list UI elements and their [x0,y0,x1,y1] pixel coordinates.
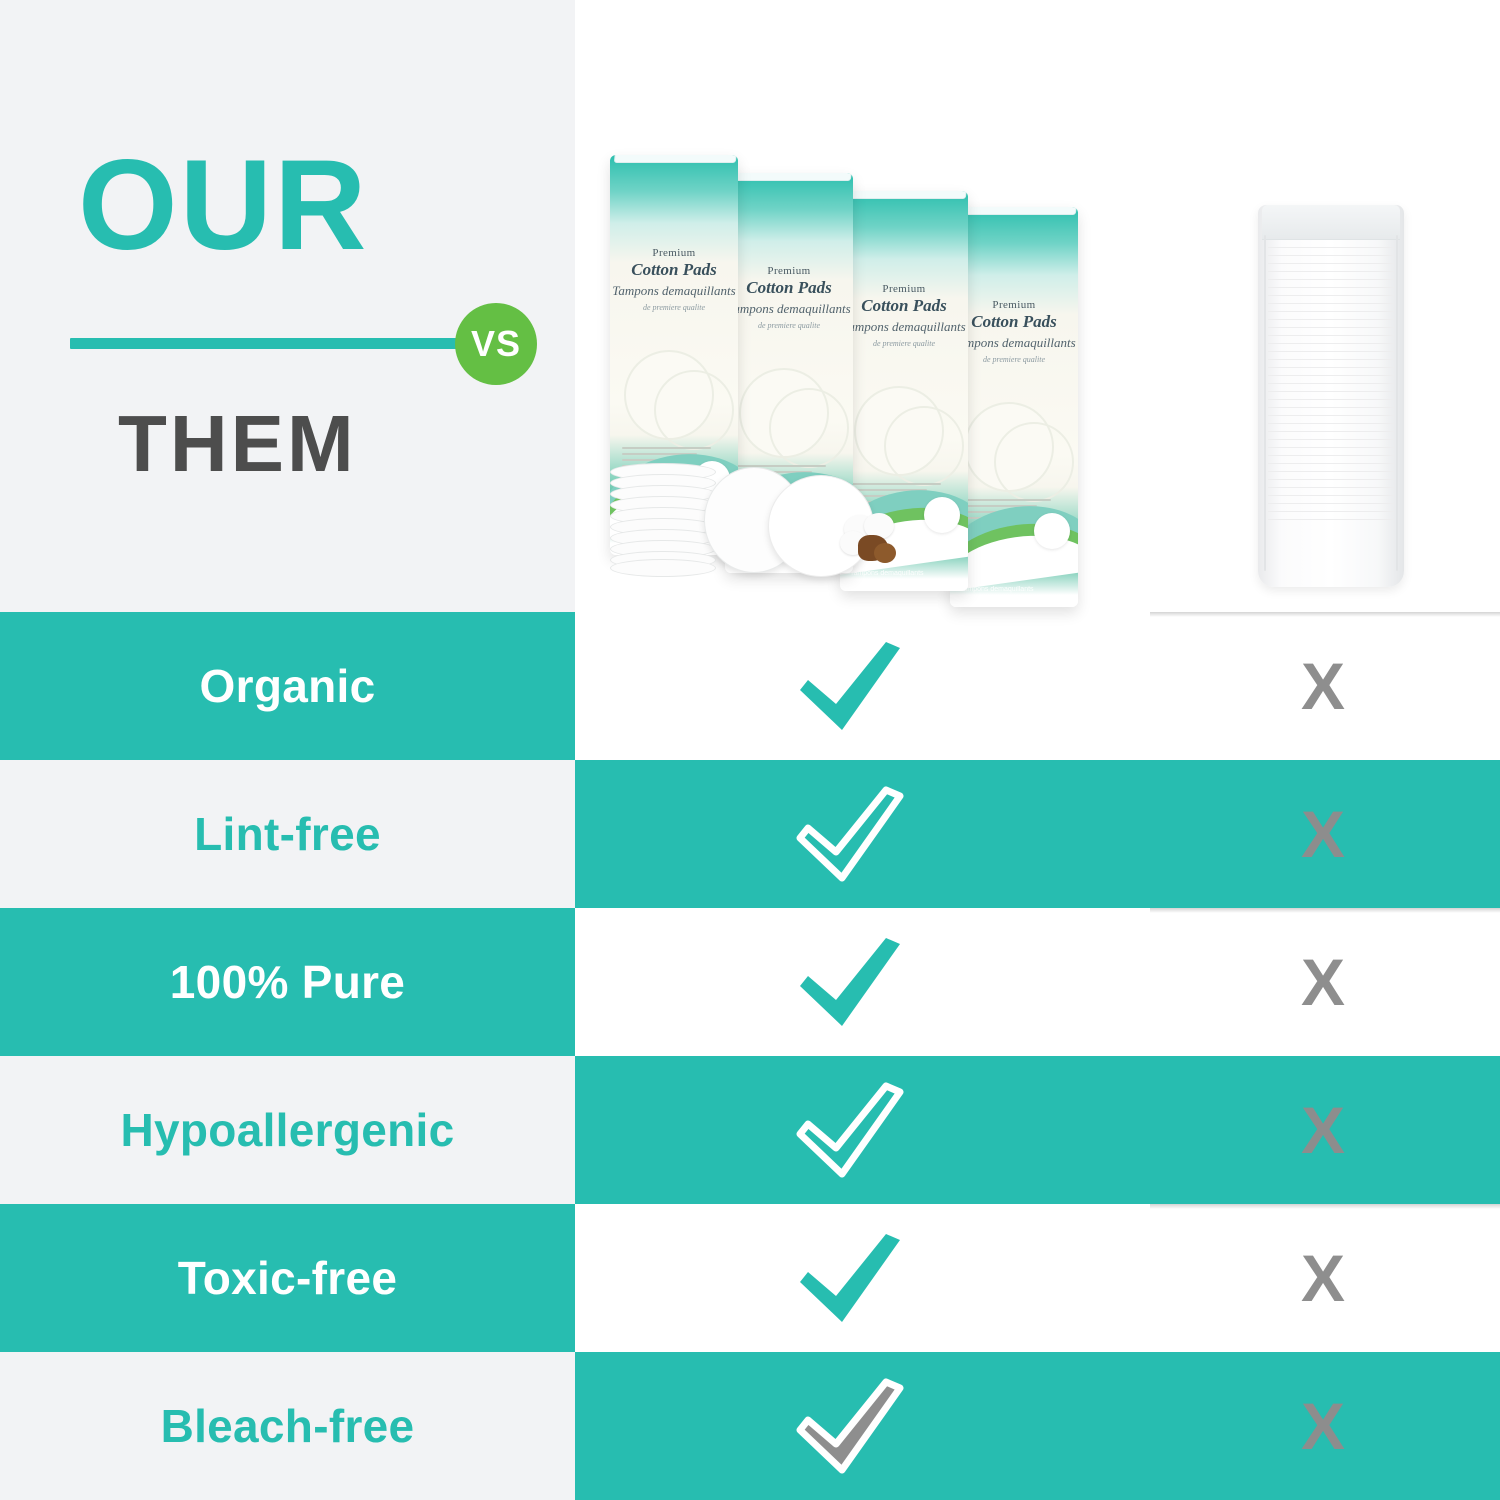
feature-label: Hypoallergenic [0,1056,575,1204]
x-icon: X [1275,638,1371,734]
x-icon: X [1275,1378,1371,1474]
package-count-number: 100 [960,558,1034,578]
package-text: Premium Cotton Pads Tampons demaquillant… [725,265,853,330]
comparison-table: Organic X Lint-free X 100% Pure [0,612,1500,1500]
our-product-image: Premium Cotton Pads Tampons demaquillant… [600,95,1080,600]
package-tagline-fr: de premiere qualite [950,355,1078,364]
check-icon [790,782,910,886]
package-tagline-fr: de premiere qualite [610,303,738,312]
package-title: Cotton Pads [725,278,853,298]
our-title: OUR [78,142,368,270]
package-count-label-fr: Tampons demaquillants [960,586,1034,595]
package-subtitle-fr: Tampons demaquillants [725,302,853,317]
feature-marks: X [575,760,1500,908]
package-premium-label: Premium [725,265,853,277]
table-row: Lint-free X [0,760,1500,908]
x-icon: X [1275,1230,1371,1326]
row-top-shadow [1150,1204,1500,1209]
package-subtitle-fr: Tampons demaquillants [610,284,738,299]
feature-label: Lint-free [0,760,575,908]
check-icon [790,1226,910,1330]
feature-marks: X [575,612,1500,760]
package-pad-graphic-2 [654,370,734,450]
check-icon [790,1374,910,1478]
plain-cotton-pad-bag [1258,205,1404,587]
feature-label: 100% Pure [0,908,575,1056]
package-title: Cotton Pads [950,312,1078,332]
check-icon [790,1078,910,1182]
x-icon: X [1275,934,1371,1030]
package-title: Cotton Pads [610,260,738,280]
package-tagline-fr: de premiere qualite [725,321,853,330]
their-product-image [1258,205,1404,587]
bag-edge-left [1264,235,1266,571]
cotton-pads-package: Premium Cotton Pads Tampons demaquillant… [950,207,1078,607]
feature-label: Organic [0,612,575,760]
row-top-shadow [1150,612,1500,617]
package-premium-label: Premium [950,299,1078,311]
bag-pad-lines [1268,247,1394,577]
vs-badge-label: VS [471,323,521,365]
package-count: 100 Cotton pads Tampons demaquillants [960,558,1034,596]
feature-marks: X [575,1204,1500,1352]
row-top-shadow [1150,908,1500,913]
feature-label: Bleach-free [0,1352,575,1500]
table-row: Hypoallergenic X [0,1056,1500,1204]
package-premium-label: Premium [610,247,738,259]
check-icon [790,634,910,738]
cotton-boll-icon [840,513,902,569]
package-text: Premium Cotton Pads Tampons demaquillant… [610,247,738,312]
package-pad-graphic-2 [994,422,1074,502]
feature-marks: X [575,908,1500,1056]
vs-badge: VS [455,303,537,385]
package-hang-tab [729,173,853,181]
table-row: Toxic-free X [0,1204,1500,1352]
package-subtitle-fr: Tampons demaquillants [840,320,968,335]
package-pad-graphic-2 [884,406,964,486]
table-row: Organic X [0,612,1500,760]
feature-marks: X [575,1056,1500,1204]
package-pad-graphic-2 [769,388,849,468]
package-tagline-fr: de premiere qualite [840,339,968,348]
package-hang-tab [614,155,738,163]
package-premium-label: Premium [840,283,968,295]
x-icon: X [1275,786,1371,882]
comparison-infographic: OUR VS THEM Premium Cotton Pads Tampons … [0,0,1500,1500]
package-count-label-fr: Tampons demaquillants [850,570,924,579]
feature-label: Toxic-free [0,1204,575,1352]
feature-marks: X [575,1352,1500,1500]
bag-edge-right [1396,235,1398,571]
them-title: THEM [118,404,357,484]
package-subtitle-fr: Tampons demaquillants [950,336,1078,351]
package-text: Premium Cotton Pads Tampons demaquillant… [840,283,968,348]
table-row: Bleach-free X [0,1352,1500,1500]
package-pad-thumb [924,497,960,533]
header: OUR VS THEM Premium Cotton Pads Tampons … [0,0,1500,612]
package-pad-thumb [1034,513,1070,549]
package-hang-tab [844,191,968,199]
check-icon [790,930,910,1034]
package-count-label-en: Cotton pads [960,578,1034,587]
package-hang-tab [954,207,1078,215]
package-text: Premium Cotton Pads Tampons demaquillant… [950,299,1078,364]
bag-seal [1262,205,1400,240]
table-row: 100% Pure X [0,908,1500,1056]
package-title: Cotton Pads [840,296,968,316]
title-divider-rule [70,338,470,349]
x-icon: X [1275,1082,1371,1178]
